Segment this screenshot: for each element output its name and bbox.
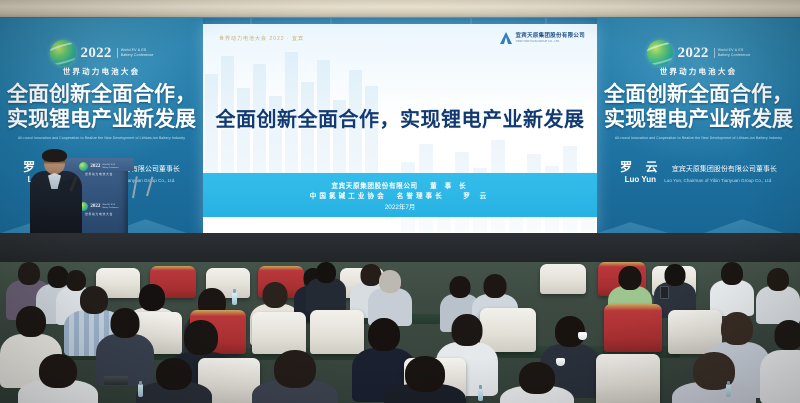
water-bottle — [726, 384, 731, 397]
backdrop-panel-right: 2022 World EV & ES Battery Conference 世界… — [597, 18, 800, 268]
band-presenter: 罗 云 — [463, 193, 490, 200]
logo-english: World EV & ES Battery Conference — [117, 48, 154, 58]
company-name-en: YIBIN TIANYUAN GROUP CO., LTD. — [516, 40, 586, 43]
audience-chair — [604, 304, 662, 352]
panel-title-line1: 全面创新全面合作， — [597, 82, 800, 107]
tea-cup — [578, 332, 587, 340]
tea-cup — [556, 358, 565, 366]
band-line-1: 宜宾天原集团股份有限公司 董 事 长 — [203, 180, 597, 190]
conference-hall-scene: 2022 World EV & ES Battery Conference 世界… — [0, 0, 800, 403]
water-bottle — [232, 292, 237, 305]
band-date: 2022年7月 — [203, 202, 597, 211]
band-role-1: 董 事 长 — [430, 183, 468, 190]
panel-subtitle-right: All-round Innovation and Cooperation to … — [605, 136, 792, 140]
logo-chinese: 世界动力电池大会 — [0, 66, 203, 77]
logo-year: 2022 — [678, 46, 709, 61]
panel-title-line2: 实现锂电产业新发展 — [0, 107, 203, 132]
company-name-cn: 宜宾天原集团股份有限公司 — [516, 33, 586, 40]
ceiling-strip — [0, 0, 800, 20]
globe-swirl-icon — [647, 40, 673, 66]
slide-presenter-band: 宜宾天原集团股份有限公司 董 事 长 中 国 氯 碱 工 业 协 会 名誉理事长… — [203, 173, 597, 217]
water-bottle — [478, 388, 483, 401]
smartphone — [660, 286, 669, 299]
podium-chinese-2: 世界动力电池大会 — [85, 212, 113, 216]
band-line-2: 中 国 氯 碱 工 业 协 会 名誉理事长 罗 云 — [203, 190, 597, 200]
speaker-name-en: Luo Yun — [625, 175, 656, 184]
podium-english-2-line2: Battery Conference — [102, 207, 118, 209]
company-logo: 宜宾天原集团股份有限公司 YIBIN TIANYUAN GROUP CO., L… — [500, 32, 586, 44]
projection-screen: 世界动力电池大会 2022 · 宜宾 宜宾天原集团股份有限公司 YIBIN TI… — [203, 24, 597, 233]
band-org-1: 宜宾天原集团股份有限公司 — [331, 183, 417, 190]
logo-year: 2022 — [81, 46, 112, 61]
audience-person — [500, 362, 574, 403]
panel-title-line2: 实现锂电产业新发展 — [597, 107, 800, 132]
audience-chair — [540, 264, 586, 294]
audience-person — [760, 320, 800, 400]
slide-corner-text: 世界动力电池大会 2022 · 宜宾 — [219, 35, 304, 42]
speaker-name-cn: 罗 云 — [620, 160, 662, 174]
audience-person — [136, 358, 212, 403]
audience-person — [672, 352, 756, 403]
speaker-line-en-right: Luo Yun Luo Yun, Chairman of Yibin Tiany… — [597, 175, 800, 184]
podium-english-2: World EV & ES Battery Conference — [102, 204, 118, 209]
panel-title-line1: 全面创新全面合作， — [0, 82, 203, 107]
globe-swirl-icon — [50, 40, 76, 66]
speaker-role-en: Luo Yun, Chairman of Yibin Tianyuan Grou… — [664, 178, 772, 183]
logo-english-line2: Battery Conference — [121, 53, 154, 57]
podium-logo-row-2: 2022 World EV & ES Battery Conference — [79, 202, 118, 211]
audience-chair — [596, 354, 660, 403]
panel-title-right: 全面创新全面合作， 实现锂电产业新发展 — [597, 82, 800, 132]
slide-title: 全面创新全面合作，实现锂电产业新发展 — [203, 103, 597, 132]
podium-year-2: 2022 — [90, 204, 100, 209]
company-logo-text: 宜宾天原集团股份有限公司 YIBIN TIANYUAN GROUP CO., L… — [516, 33, 586, 43]
audience-chair — [252, 312, 306, 354]
audience-person — [368, 270, 412, 324]
panel-subtitle-left: All-round Innovation and Cooperation to … — [8, 136, 195, 140]
conference-logo-left: 2022 World EV & ES Battery Conference — [0, 40, 203, 66]
logo-english-line1: World EV & ES — [121, 48, 147, 52]
speaker-person — [28, 150, 84, 242]
audience-area — [0, 262, 800, 403]
speaker-line-cn-right: 罗 云 宜宾天原集团股份有限公司董事长 — [597, 158, 800, 175]
podium-chinese: 世界动力电池大会 — [85, 172, 113, 176]
panel-title-left: 全面创新全面合作， 实现锂电产业新发展 — [0, 82, 203, 132]
speaker-role-cn: 宜宾天原集团股份有限公司董事长 — [672, 166, 777, 173]
speaker-hair — [42, 149, 67, 162]
podium-english-line2: Battery Conference — [102, 167, 118, 169]
audience-person — [710, 262, 754, 314]
audience-person — [384, 356, 466, 403]
audience-person — [18, 354, 98, 403]
laptop — [104, 376, 128, 385]
logo-english-line1: World EV & ES — [718, 48, 744, 52]
triangle-a-logo-icon — [500, 32, 513, 44]
audience-person — [252, 350, 338, 403]
conference-logo-right: 2022 World EV & ES Battery Conference — [597, 40, 800, 66]
podium-year: 2022 — [90, 164, 100, 169]
logo-chinese: 世界动力电池大会 — [597, 66, 800, 77]
water-bottle — [138, 384, 143, 397]
podium-logo-row: 2022 World EV & ES Battery Conference — [79, 162, 118, 171]
logo-english-line2: Battery Conference — [718, 53, 751, 57]
band-org-2: 中 国 氯 碱 工 业 协 会 — [310, 193, 385, 200]
band-role-2: 名誉理事长 — [397, 193, 445, 200]
podium-english: World EV & ES Battery Conference — [102, 164, 118, 169]
audience-person — [306, 262, 346, 310]
logo-english: World EV & ES Battery Conference — [714, 48, 751, 58]
